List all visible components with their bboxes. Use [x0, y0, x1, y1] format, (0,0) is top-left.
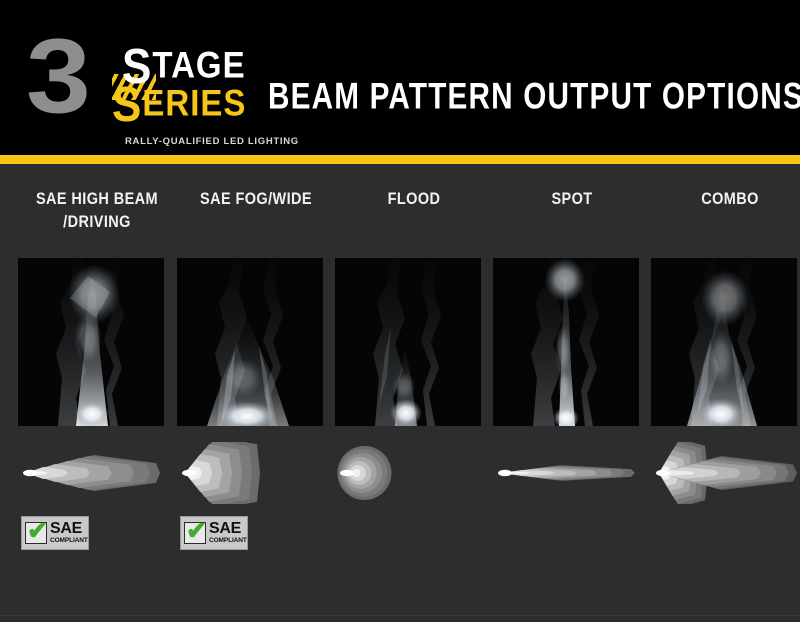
logo-stage-rest: TAGE: [152, 44, 245, 85]
beam-label-line1: SPOT: [551, 190, 592, 208]
page-title: BEAM PATTERN OUTPUT OPTIONS: [268, 76, 800, 119]
beam-photo-spot: [493, 258, 639, 426]
beam-column-flood: FLOOD: [335, 164, 493, 622]
beam-label-line1: FLOOD: [388, 190, 441, 208]
beam-column-label: SPOT: [493, 188, 651, 211]
beam-column-combo: COMBO: [651, 164, 800, 622]
beam-pattern-diagram-spot: [493, 442, 651, 504]
beam-columns-container: SAE HIGH BEAM/DRIVING: [0, 164, 800, 622]
beam-column-label: SAE HIGH BEAM/DRIVING: [18, 188, 176, 234]
beam-column-label: FLOOD: [335, 188, 493, 211]
beam-label-line1: COMBO: [701, 190, 759, 208]
sae-badge-subtitle: COMPLIANT: [50, 538, 88, 545]
beam-photo-fog-wide: [177, 258, 323, 426]
sae-badge-subtitle: COMPLIANT: [209, 538, 247, 545]
beam-column-label: SAE FOG/WIDE: [177, 188, 335, 211]
beam-photo-driving: [18, 258, 164, 426]
beam-label-line1: SAE FOG/WIDE: [200, 190, 312, 208]
stage-series-logo: 3 STAGE SERIES RALLY-QUALIFIED LED LIGHT…: [26, 28, 246, 132]
logo-word-series: SERIES: [112, 84, 246, 123]
beam-label-line1: SAE HIGH BEAM: [36, 190, 158, 208]
check-mark-icon: ✔: [25, 522, 47, 544]
sae-compliant-badge: ✔SAECOMPLIANT: [21, 516, 89, 550]
beam-label-line2: /DRIVING: [18, 211, 176, 234]
beam-column-driving: SAE HIGH BEAM/DRIVING: [18, 164, 176, 622]
sae-badge-title: SAE: [209, 521, 247, 537]
beam-pattern-infographic: 3 STAGE SERIES RALLY-QUALIFIED LED LIGHT…: [0, 0, 800, 622]
beam-photo-combo: [651, 258, 797, 426]
logo-series-capital: S: [112, 77, 142, 132]
sae-compliant-badge: ✔SAECOMPLIANT: [180, 516, 248, 550]
beam-pattern-diagram-driving: [18, 442, 176, 504]
beam-photo-flood: [335, 258, 481, 426]
logo-numeral-3: 3: [26, 24, 86, 130]
yellow-accent-divider: [0, 155, 800, 164]
beam-column-spot: SPOT: [493, 164, 651, 622]
sae-badge-text: SAECOMPLIANT: [50, 521, 88, 545]
logo-series-rest: ERIES: [142, 82, 246, 123]
check-mark-icon: ✔: [184, 522, 206, 544]
beam-pattern-diagram-combo: [651, 442, 800, 504]
beam-pattern-diagram-fog-wide: [177, 442, 335, 504]
sae-badge-text: SAECOMPLIANT: [209, 521, 247, 545]
beam-column-label: COMBO: [651, 188, 800, 211]
logo-tagline: RALLY-QUALIFIED LED LIGHTING: [125, 136, 299, 147]
bottom-divider: [0, 615, 800, 616]
sae-badge-title: SAE: [50, 521, 88, 537]
beam-column-fog-wide: SAE FOG/WIDE: [177, 164, 335, 622]
beam-pattern-diagram-flood: [335, 442, 493, 504]
header-bar: 3 STAGE SERIES RALLY-QUALIFIED LED LIGHT…: [0, 0, 800, 155]
